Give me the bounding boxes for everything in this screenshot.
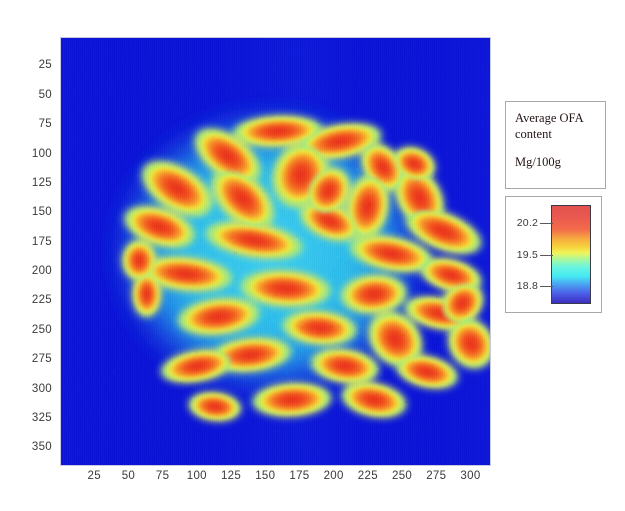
x-axis-tick-label: 150 <box>255 470 275 482</box>
y-axis-tick-label: 125 <box>6 177 52 189</box>
x-axis-tick-label: 250 <box>392 470 412 482</box>
x-axis-tick-label: 100 <box>187 470 207 482</box>
colorbar-tick-label: 18.8 <box>506 280 538 292</box>
colorbar-title-line-2: content <box>515 127 597 143</box>
x-axis-tick-label: 225 <box>358 470 378 482</box>
x-axis-tick-label: 175 <box>289 470 309 482</box>
heatmap-image <box>61 38 490 465</box>
colorbar-unit-label: Mg/100g <box>515 155 597 170</box>
x-axis-tick-label: 275 <box>426 470 446 482</box>
x-axis-tick-label: 200 <box>324 470 344 482</box>
x-axis-tick-label: 300 <box>460 470 480 482</box>
colorbar-tick-mark <box>540 286 553 287</box>
y-axis-tick-label: 100 <box>6 148 52 160</box>
colorbar-tick-label: 19.5 <box>506 249 538 261</box>
y-axis-tick-label: 50 <box>6 89 52 101</box>
colorbar-tick-mark <box>540 255 553 256</box>
y-axis-tick-label: 275 <box>6 353 52 365</box>
y-axis-tick-label: 75 <box>6 118 52 130</box>
colorbar-box: 20.219.518.8 <box>505 196 602 313</box>
y-axis-tick-label: 325 <box>6 412 52 424</box>
y-axis-tick-label: 300 <box>6 383 52 395</box>
colorbar-title-box: Average OFA content Mg/100g <box>505 101 606 189</box>
y-axis-tick-label: 175 <box>6 236 52 248</box>
x-axis-tick-label: 125 <box>221 470 241 482</box>
y-axis-tick-label: 350 <box>6 441 52 453</box>
colorbar-tick-mark <box>540 223 553 224</box>
y-axis: 255075100125150175200225250275300325350 <box>0 37 52 466</box>
figure-root: 255075100125150175200225250275300325350 … <box>0 0 625 511</box>
y-axis-tick-label: 225 <box>6 294 52 306</box>
x-axis: 255075100125150175200225250275300 <box>60 470 491 490</box>
y-axis-tick-label: 200 <box>6 265 52 277</box>
colorbar-tick-label: 20.2 <box>506 217 538 229</box>
colorbar-gradient <box>551 205 591 304</box>
x-axis-tick-label: 50 <box>122 470 135 482</box>
x-axis-tick-label: 25 <box>88 470 101 482</box>
colorbar-title-line-1: Average OFA <box>515 111 597 127</box>
x-axis-tick-label: 75 <box>156 470 169 482</box>
y-axis-tick-label: 150 <box>6 206 52 218</box>
y-axis-tick-label: 25 <box>6 59 52 71</box>
heatmap-plot-area <box>60 37 491 466</box>
y-axis-tick-label: 250 <box>6 324 52 336</box>
